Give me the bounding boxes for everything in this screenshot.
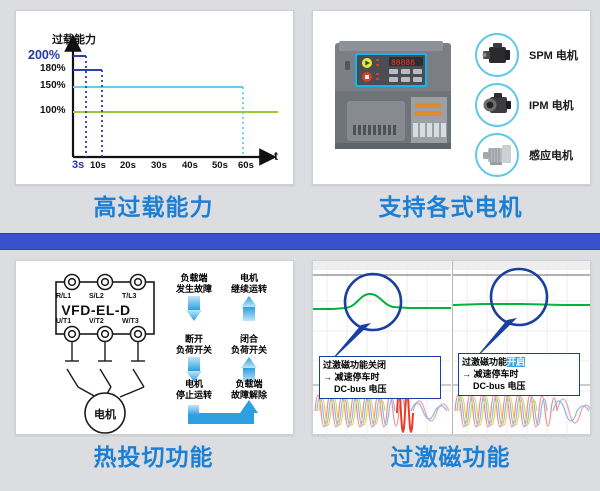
panel-high-overload: 过载能力 200% 180% 150% 100% 3s 10s 20s 30s … — [15, 10, 294, 185]
induction-motor-icon — [475, 133, 519, 177]
chart-xtick-50s: 50s — [212, 160, 228, 171]
callout-off: 过激磁功能关闭 → 减速停车时 DC-bus 电压 — [319, 356, 441, 399]
device-label: VFD-EL-D — [16, 302, 176, 318]
panel-motor-support: 88888 — [312, 10, 591, 185]
chart-xtick-60s: 60s — [238, 160, 254, 171]
terminal-label-w: W/T3 — [122, 318, 139, 325]
callout-off-title: 过激磁功能关闭 — [323, 359, 437, 371]
callout-off-state: 关闭 — [368, 360, 386, 370]
flow-down-step-2-line2: 负荷开关 — [166, 345, 222, 356]
motor-label-ipm: IPM 电机 — [529, 97, 574, 113]
overload-chart: 过载能力 200% 180% 150% 100% 3s 10s 20s 30s … — [16, 11, 293, 184]
callout-on-line2: → 减速停车时 — [462, 368, 576, 380]
feature-grid: 过载能力 200% 180% 150% 100% 3s 10s 20s 30s … — [0, 0, 600, 491]
chart-xtick-40s: 40s — [182, 160, 198, 171]
scope-off — [313, 261, 451, 434]
chart-ytick-180: 180% — [40, 63, 66, 74]
terminal-label-u: U/T1 — [56, 318, 71, 325]
chart-xtick-20s: 20s — [120, 160, 136, 171]
callout-off-line2: → 减速停车时 — [323, 371, 437, 383]
chart-ytick-200: 200% — [28, 48, 60, 62]
callout-on: 过激磁功能开启 → 减速停车时 DC-bus 电压 — [458, 353, 580, 396]
flow-up-step-2: 闭合 负荷开关 — [221, 334, 277, 356]
callout-off-prefix: 过激磁功能 — [323, 360, 368, 370]
chart-ylabel: 过载能力 — [52, 31, 96, 47]
flow-up-step-3: 电机 继续运转 — [221, 273, 277, 295]
caption-high-overload: 高过载能力 — [15, 192, 292, 222]
spm-motor-icon — [475, 33, 519, 77]
chart-xtick-30s: 30s — [151, 160, 167, 171]
flow-up-step-2-line2: 负荷开关 — [221, 345, 277, 356]
chart-ytick-150: 150% — [40, 80, 66, 91]
flow-up-step-3-line2: 继续运转 — [221, 284, 277, 295]
flow-up-step-1-line2: 故障解除 — [221, 390, 277, 401]
callout-off-line3: DC-bus 电压 — [323, 383, 437, 395]
flow-down-step-1-line2: 发生故障 — [166, 284, 222, 295]
caption-over-excitation: 过激磁功能 — [312, 442, 589, 472]
flow-up-step-3-line1: 电机 — [221, 273, 277, 284]
flow-down-step-3-line2: 停止运转 — [166, 390, 222, 401]
chart-xtick-3s: 3s — [72, 159, 84, 171]
ipm-motor-icon — [475, 83, 519, 127]
terminal-label-v: V/T2 — [89, 318, 104, 325]
panel-hot-switch: R/L1 S/L2 T/L3 U/T1 V/T2 W/T3 VFD-EL-D 电… — [15, 260, 294, 435]
section-divider — [0, 233, 600, 250]
callout-on-state: 开启 — [507, 357, 525, 367]
flow-up-step-1-line1: 负载端 — [221, 379, 277, 390]
motor-label-induction: 感应电机 — [529, 147, 573, 163]
vfd-drive-icon: 88888 — [331, 39, 456, 154]
chart-xtick-10s: 10s — [90, 160, 106, 171]
flow-down-step-2-line1: 断开 — [166, 334, 222, 345]
chart-xlabel: t — [274, 149, 278, 163]
flow-down-step-3-line1: 电机 — [166, 379, 222, 390]
panel-over-excitation: 过激磁功能关闭 → 减速停车时 DC-bus 电压 过激磁功能开启 → 减速停车… — [312, 260, 591, 435]
chart-ytick-100: 100% — [40, 105, 66, 116]
caption-motor-support: 支持各式电机 — [312, 192, 589, 222]
scope-on — [452, 261, 591, 434]
caption-hot-switch: 热投切功能 — [15, 442, 292, 472]
terminal-label-t: T/L3 — [122, 293, 136, 300]
flow-down-step-1: 负载端 发生故障 — [166, 273, 222, 295]
flow-up-step-2-line1: 闭合 — [221, 334, 277, 345]
terminal-label-r: R/L1 — [56, 293, 71, 300]
flow-down-step-1-line1: 负载端 — [166, 273, 222, 284]
motor-item-ipm: IPM 电机 — [475, 83, 574, 127]
motor-label-spm: SPM 电机 — [529, 47, 578, 63]
flow-down-step-2: 断开 负荷开关 — [166, 334, 222, 356]
motor-item-spm: SPM 电机 — [475, 33, 578, 77]
callout-on-title: 过激磁功能开启 — [462, 356, 576, 368]
svg-text:88888: 88888 — [391, 59, 415, 68]
flow-up-step-1: 负载端 故障解除 — [221, 379, 277, 401]
terminal-label-s: S/L2 — [89, 293, 104, 300]
callout-on-line3: DC-bus 电压 — [462, 380, 576, 392]
motor-item-induction: 感应电机 — [475, 133, 573, 177]
flow-down-step-3: 电机 停止运转 — [166, 379, 222, 401]
callout-on-prefix: 过激磁功能 — [462, 357, 507, 367]
